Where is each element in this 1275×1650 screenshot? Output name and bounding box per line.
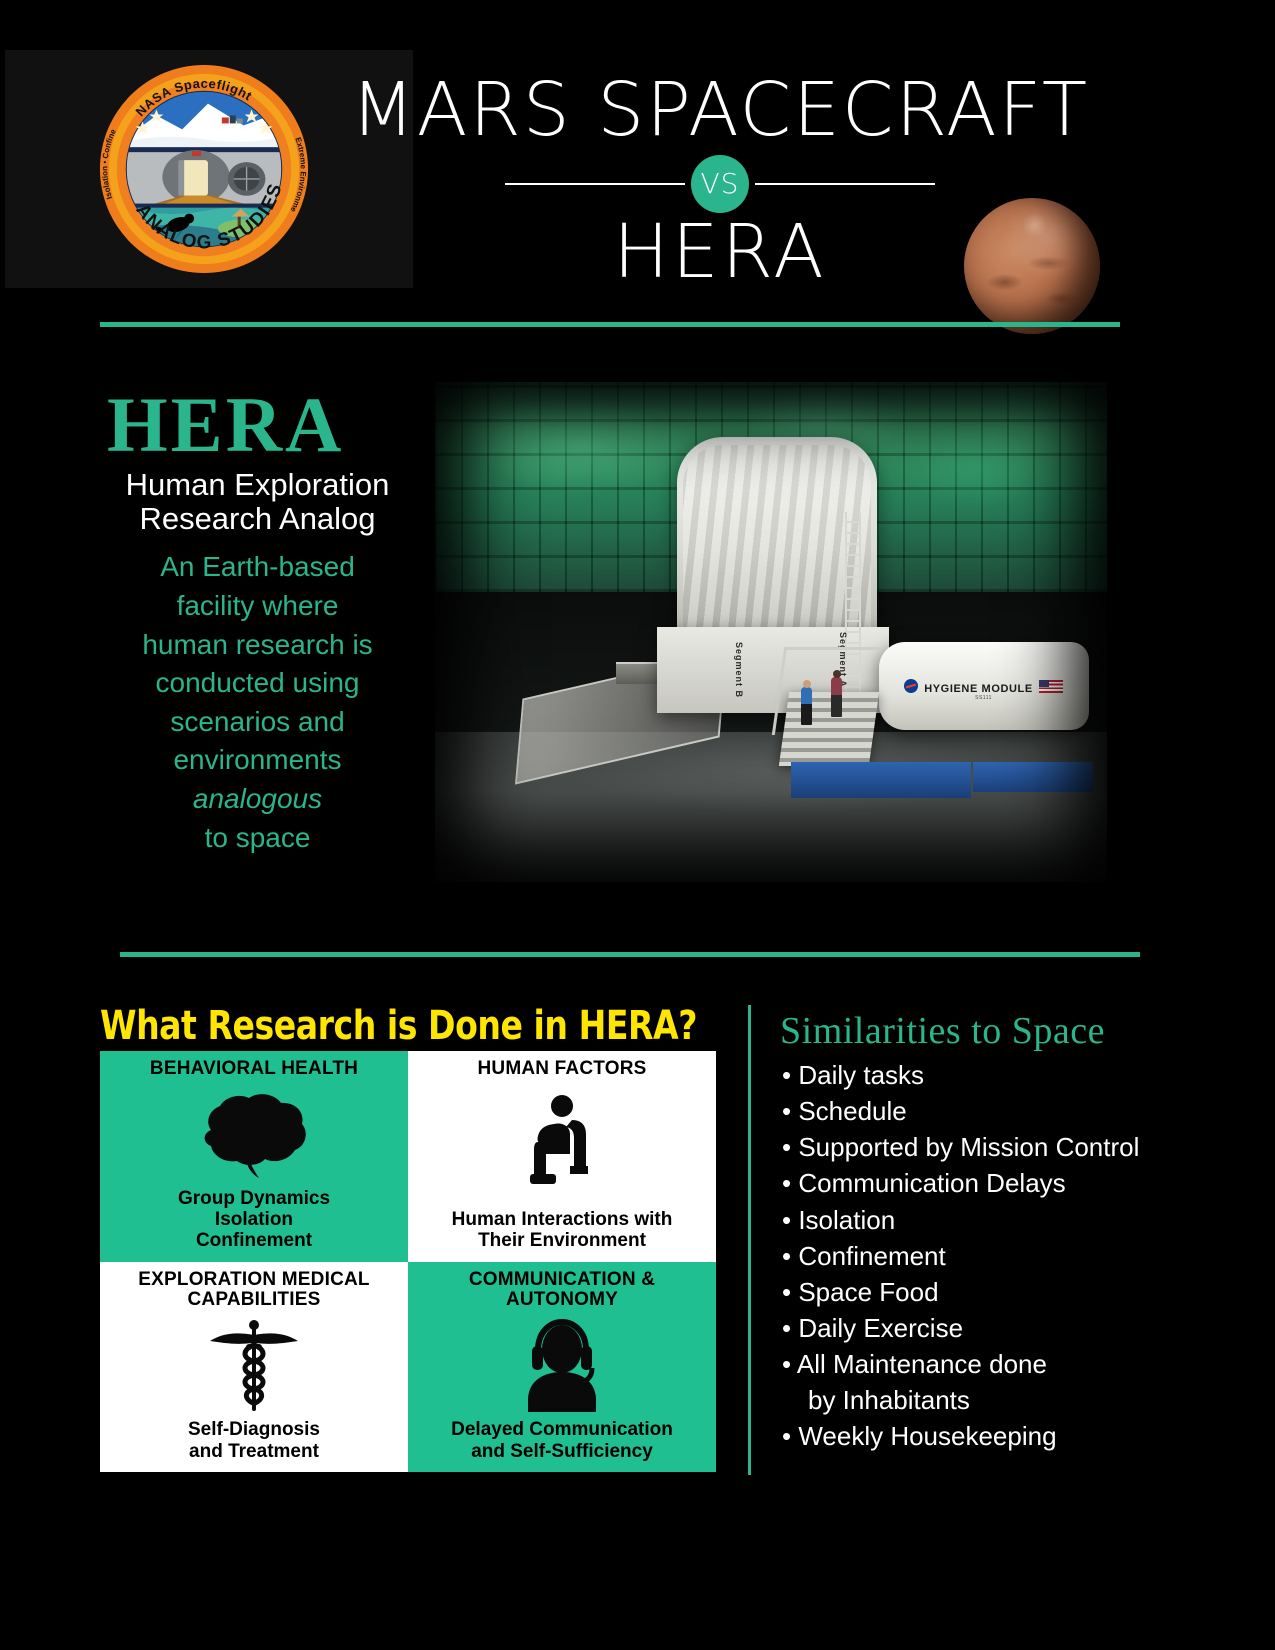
photo-blue-base-right xyxy=(973,762,1093,792)
cell-caption-behavioral-health: Group Dynamics Isolation Confinement xyxy=(178,1188,330,1252)
photo-person-crew-2 xyxy=(831,677,842,717)
list-item: • Space Food xyxy=(782,1274,1252,1310)
cell-caption-human-factors: Human Interactions with Their Environmen… xyxy=(452,1209,673,1252)
seated-person-icon xyxy=(414,1080,710,1209)
cell-caption-exploration-medical: Self-Diagnosis and Treatment xyxy=(188,1419,320,1462)
cell-title-human-factors: HUMAN FACTORS xyxy=(477,1059,646,1080)
vs-rule-right xyxy=(755,183,935,185)
photo-person-crew-1 xyxy=(801,687,812,725)
cell-title-line: EXPLORATION MEDICAL xyxy=(138,1270,369,1291)
caption-line: Self-Diagnosis xyxy=(188,1419,320,1440)
caption-line: Their Environment xyxy=(452,1230,673,1251)
nasa-meatball-icon xyxy=(904,679,918,693)
photo-stairs xyxy=(779,692,879,766)
research-cell-human-factors[interactable]: HUMAN FACTORS Human Interactions with Th… xyxy=(408,1051,716,1262)
hera-desc-line3: human research is xyxy=(103,626,412,665)
hera-facility-photo: Segment B Segment A HYGIENE MODULE SS111 xyxy=(435,382,1107,882)
headset-person-icon xyxy=(414,1311,710,1420)
photo-blue-base-left xyxy=(791,762,971,798)
mars-planet-icon xyxy=(964,198,1100,334)
hera-desc-line4: conducted using xyxy=(103,664,412,703)
cell-title-communication-autonomy: COMMUNICATION & AUTONOMY xyxy=(469,1270,655,1311)
hera-desc-line7-italic: analogous xyxy=(103,780,412,819)
list-item: • Supported by Mission Control xyxy=(782,1129,1252,1165)
hera-desc-line6: environments xyxy=(103,741,412,780)
hera-description-block: HERA Human Exploration Research Analog A… xyxy=(85,388,430,857)
research-heading: What Research is Done in HERA? xyxy=(100,1003,697,1049)
research-grid: BEHAVIORAL HEALTH Group Dynamics Isolati… xyxy=(100,1051,716,1472)
cell-title-line: AUTONOMY xyxy=(469,1290,655,1311)
caption-line: and Self-Sufficiency xyxy=(451,1441,673,1462)
page-header: NASA Spaceflight ANALOG STUDIES Isolatio… xyxy=(0,0,1275,320)
list-item: • Confinement xyxy=(782,1238,1252,1274)
hera-section: HERA Human Exploration Research Analog A… xyxy=(0,320,1275,920)
list-item: • All Maintenance done xyxy=(782,1346,1252,1382)
hera-desc-line1: An Earth-based xyxy=(103,548,412,587)
hera-expansion-line1: Human Exploration xyxy=(85,468,430,502)
hygiene-module-sublabel: SS111 xyxy=(975,695,992,701)
research-cell-communication-autonomy[interactable]: COMMUNICATION & AUTONOMY xyxy=(408,1262,716,1473)
vs-badge: VS xyxy=(691,155,749,213)
caption-line: Isolation xyxy=(178,1209,330,1230)
list-item: • Daily tasks xyxy=(782,1057,1252,1093)
section-divider-rule xyxy=(120,952,1140,957)
hygiene-module-label: HYGIENE MODULE xyxy=(924,683,1033,695)
photo-hygiene-module: HYGIENE MODULE SS111 xyxy=(879,642,1089,730)
photo-segment-b-label: Segment B xyxy=(734,642,744,698)
research-cell-behavioral-health[interactable]: BEHAVIORAL HEALTH Group Dynamics Isolati… xyxy=(100,1051,408,1262)
lower-section: What Research is Done in HERA? BEHAVIORA… xyxy=(0,965,1275,1525)
list-item: • Communication Delays xyxy=(782,1165,1252,1201)
page-title-line1: MARS SPACECRAFT xyxy=(340,72,1100,150)
us-flag-icon xyxy=(1039,680,1063,693)
caption-line: and Treatment xyxy=(188,1441,320,1462)
cell-title-behavioral-health: BEHAVIORAL HEALTH xyxy=(150,1059,358,1080)
list-item: • Schedule xyxy=(782,1093,1252,1129)
cell-caption-communication-autonomy: Delayed Communication and Self-Sufficien… xyxy=(451,1419,673,1462)
caduceus-icon xyxy=(106,1311,402,1420)
similarities-divider xyxy=(748,1005,751,1475)
brain-icon xyxy=(106,1080,402,1188)
hera-expansion-line2: Research Analog xyxy=(85,502,430,536)
caption-line: Group Dynamics xyxy=(178,1188,330,1209)
list-item: • Weekly Housekeeping xyxy=(782,1418,1252,1454)
vs-rule-left xyxy=(505,183,685,185)
cell-title-line: COMMUNICATION & xyxy=(469,1270,655,1291)
hera-description: An Earth-based facility where human rese… xyxy=(85,548,430,857)
hera-acronym: HERA xyxy=(85,388,430,462)
research-cell-exploration-medical[interactable]: EXPLORATION MEDICAL CAPABILITIES xyxy=(100,1262,408,1473)
caption-line: Delayed Communication xyxy=(451,1419,673,1440)
similarities-list: • Daily tasks • Schedule • Supported by … xyxy=(782,1057,1252,1454)
cell-title-exploration-medical: EXPLORATION MEDICAL CAPABILITIES xyxy=(138,1270,369,1311)
caption-line: Human Interactions with xyxy=(452,1209,673,1230)
similarities-heading: Similarities to Space xyxy=(780,1009,1105,1053)
vs-separator: VS xyxy=(340,154,1100,214)
list-item: • Daily Exercise xyxy=(782,1310,1252,1346)
list-item: by Inhabitants xyxy=(782,1382,1252,1418)
hera-expansion: Human Exploration Research Analog xyxy=(85,468,430,536)
hera-desc-line8: to space xyxy=(103,819,412,858)
caption-line: Confinement xyxy=(178,1230,330,1251)
cell-title-line: CAPABILITIES xyxy=(138,1290,369,1311)
list-item: • Isolation xyxy=(782,1202,1252,1238)
hera-desc-line5: scenarios and xyxy=(103,703,412,742)
analog-studies-badge-icon: NASA Spaceflight ANALOG STUDIES Isolatio… xyxy=(95,60,313,278)
hera-desc-line2: facility where xyxy=(103,587,412,626)
